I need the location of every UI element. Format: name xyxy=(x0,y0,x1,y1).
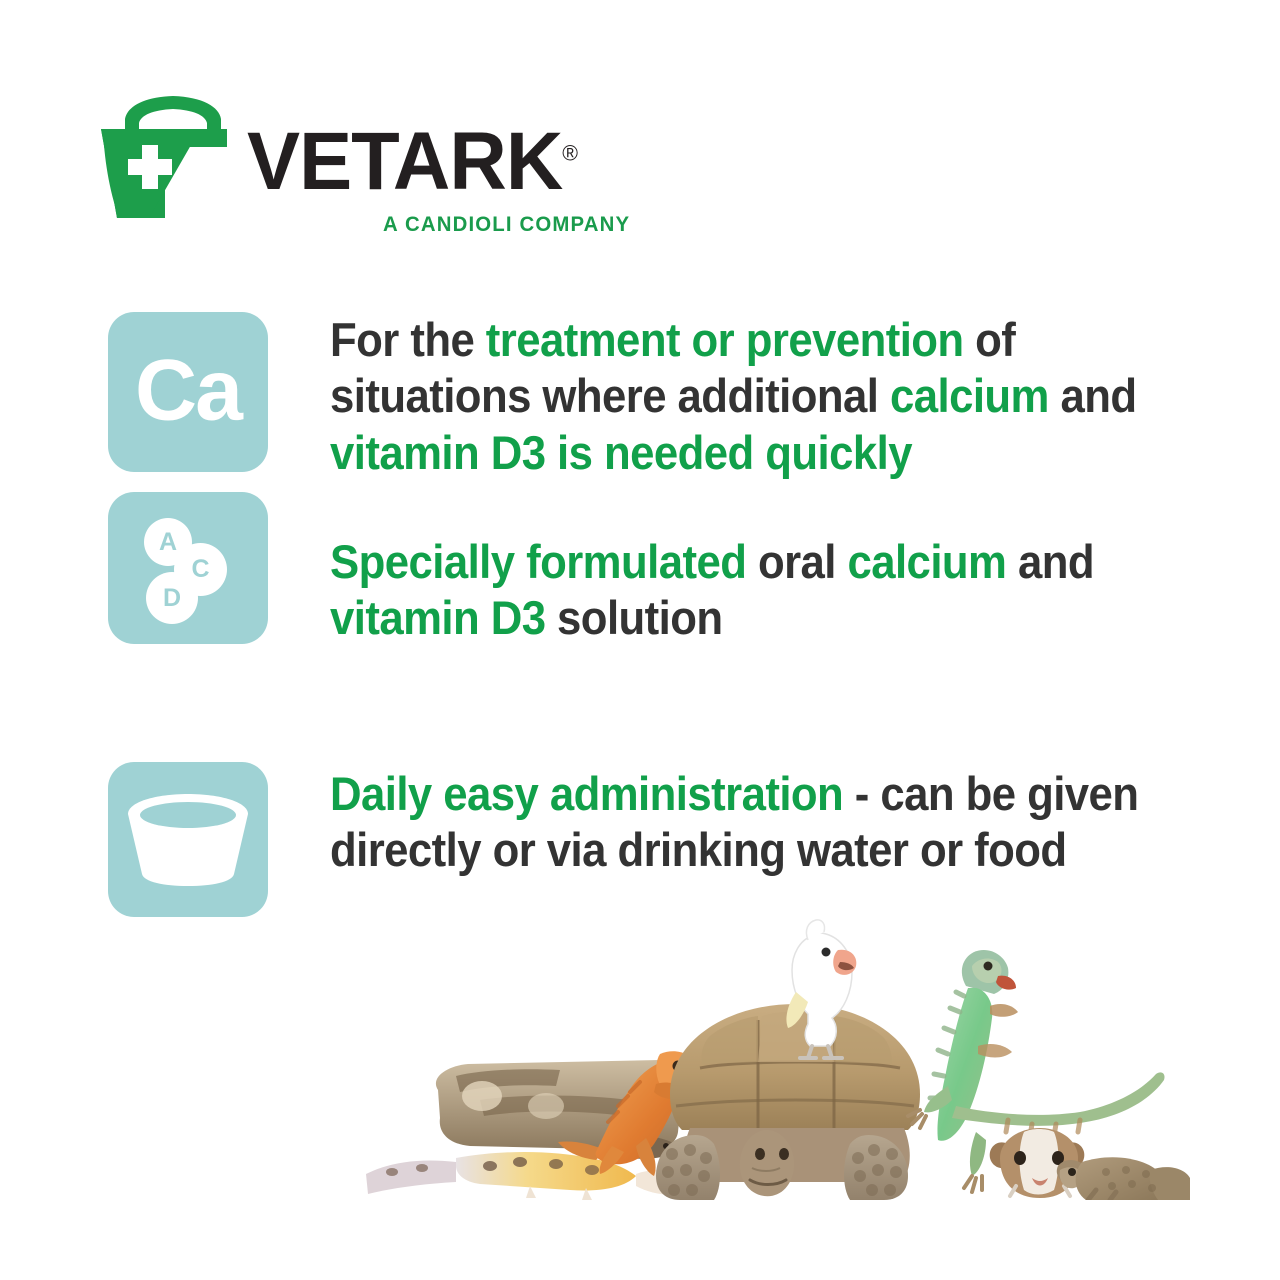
vet-bag-cross-logo-icon xyxy=(95,85,255,220)
feature-row-calcium: Ca For the treatment or prevention of si… xyxy=(108,312,1218,481)
calcium-ca-icon-label: Ca xyxy=(108,347,268,433)
registered-trademark-mark: ® xyxy=(562,141,578,166)
feature-row-administration: Daily easy administration - can be given… xyxy=(108,762,1218,917)
feature-row-formulation: A C D Specially formulated oral calcium … xyxy=(108,492,1218,647)
text-segment-highlight: vitamin D3 xyxy=(330,591,545,644)
feeding-bowl-glyph xyxy=(122,792,254,888)
text-segment: For the xyxy=(330,313,486,366)
text-segment-highlight: Specially formulated xyxy=(330,535,746,588)
text-segment: and xyxy=(1049,369,1137,422)
feature-text-administration: Daily easy administration - can be given… xyxy=(330,762,1156,879)
exotic-pets-illustration xyxy=(360,900,1190,1200)
brand-wordmark: VETARK® xyxy=(247,121,578,203)
text-segment-highlight: Daily easy administration xyxy=(330,767,843,820)
brand-logo: VETARK® A CANDIOLI COMPANY xyxy=(95,85,565,260)
text-segment-highlight: calcium xyxy=(890,369,1049,422)
text-segment: solution xyxy=(545,591,722,644)
text-segment-highlight: vitamin D3 is needed quickly xyxy=(330,426,912,479)
sulcata-tortoise xyxy=(656,1004,920,1200)
feeding-bowl-icon xyxy=(108,762,268,917)
calcium-ca-icon: Ca xyxy=(108,312,268,472)
vitamins-acd-icon: A C D xyxy=(108,492,268,644)
exotic-pets-group-photo xyxy=(360,900,1190,1200)
text-segment: oral xyxy=(746,535,847,588)
text-segment: and xyxy=(1006,535,1094,588)
wordmark-text: VETARK xyxy=(247,116,562,207)
text-segment-highlight: treatment or prevention xyxy=(486,313,964,366)
brand-tagline: A CANDIOLI COMPANY xyxy=(383,213,630,237)
feature-text-calcium: For the treatment or prevention of situa… xyxy=(330,312,1156,481)
vitamin-circle-d: D xyxy=(146,572,198,624)
feature-text-formulation: Specially formulated oral calcium and vi… xyxy=(330,492,1156,647)
monitor-lizard xyxy=(1057,1157,1190,1200)
text-segment-highlight: calcium xyxy=(847,535,1006,588)
